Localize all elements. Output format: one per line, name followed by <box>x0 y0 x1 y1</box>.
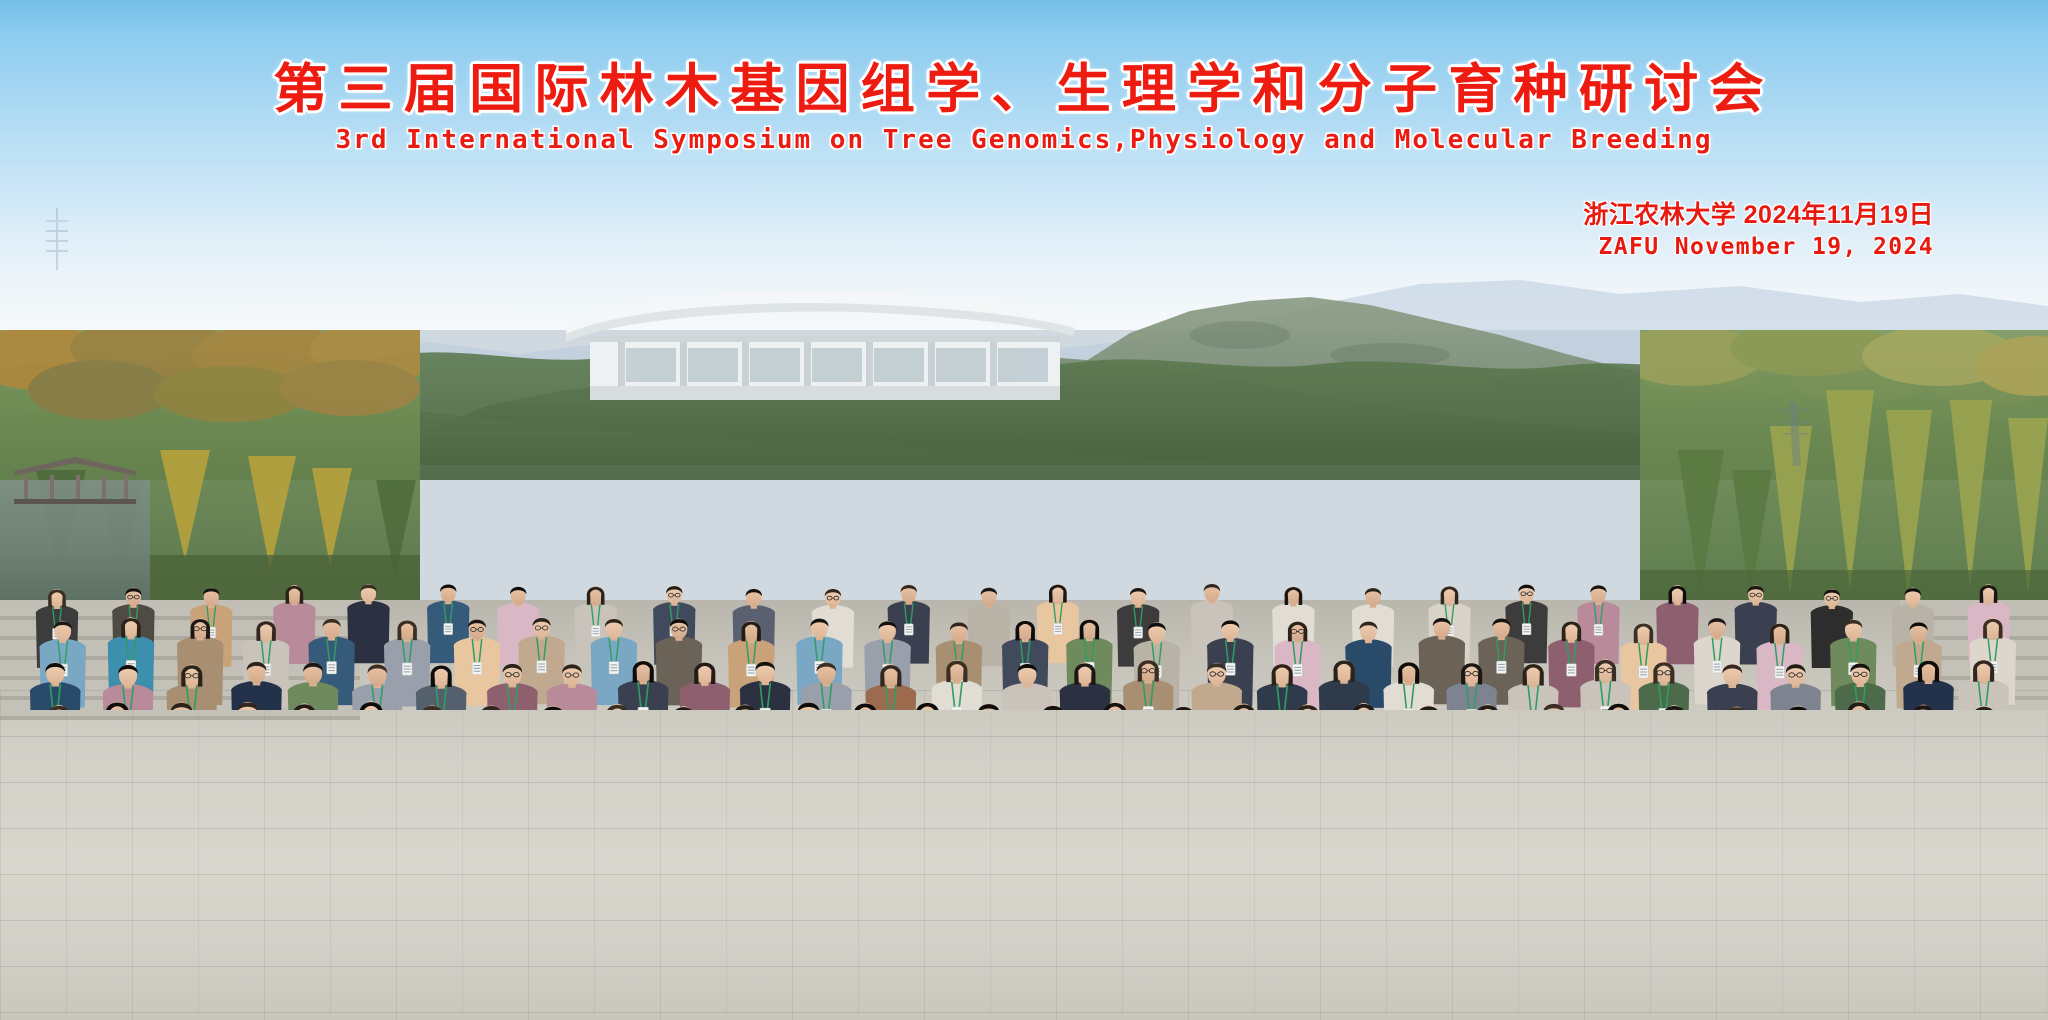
conference-group-photo: 第三届国际林木基因组学、生理学和分子育种研讨会 3rd Internationa… <box>0 0 2048 1020</box>
name-badge <box>760 708 770 710</box>
name-badge <box>1404 709 1414 710</box>
name-badge <box>821 709 831 710</box>
name-badge <box>638 707 648 710</box>
name-badge <box>952 707 962 710</box>
attendee-crowd <box>0 290 2048 710</box>
name-badge <box>1466 709 1476 710</box>
paving-stones-offset <box>0 713 2048 1013</box>
